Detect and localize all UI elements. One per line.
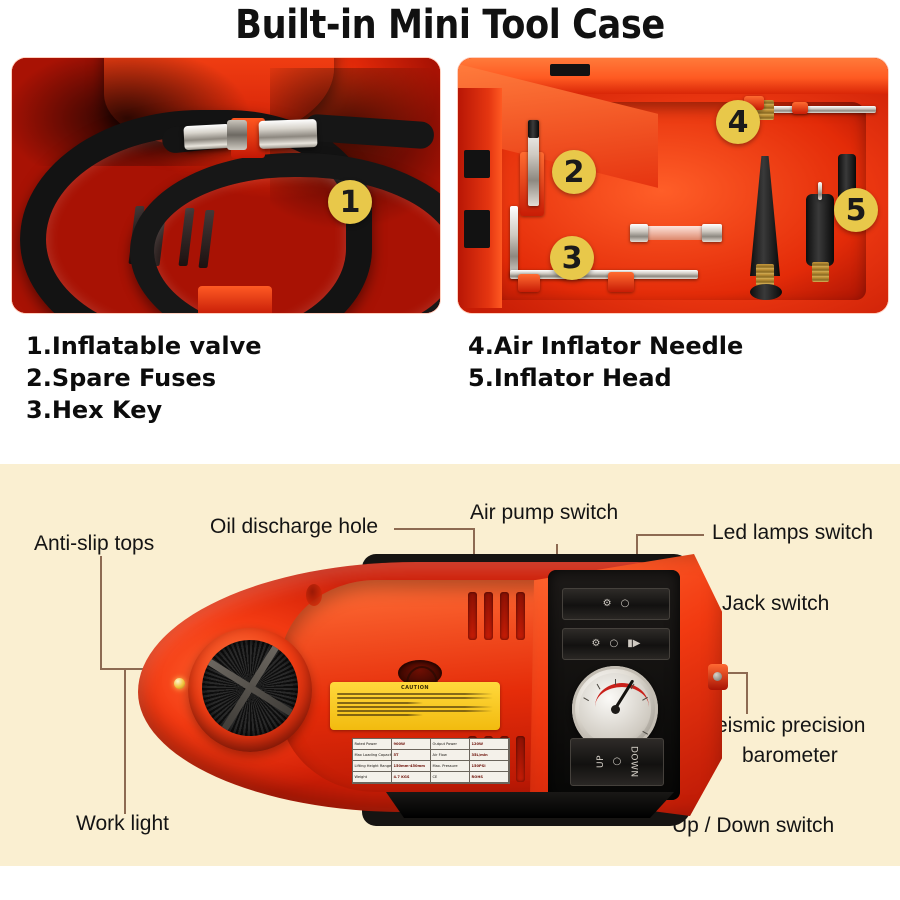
shell-dimple (306, 584, 322, 606)
jack-base-foot (374, 792, 674, 818)
callout-air-pump-switch: Air pump switch (470, 501, 618, 525)
legend-right-column: 4.Air Inflator Needle 5.Inflator Head (468, 330, 743, 394)
fuse-cap (630, 224, 648, 242)
legend-item-2: 2.Spare Fuses (26, 362, 262, 394)
air-inflator-needle (766, 106, 876, 113)
callout-oil-discharge-hole: Oil discharge hole (210, 515, 378, 539)
fuse-cap (528, 120, 539, 138)
anti-slip-saddle (188, 628, 312, 752)
gauge-tick (615, 679, 616, 685)
case-left-wall (458, 88, 502, 308)
electric-car-jack-product: CAUTION Rated Power 900W Output Power 12… (130, 540, 750, 840)
badge-number: 5 (846, 193, 867, 228)
down-label: DOWN (628, 746, 638, 778)
inflator-head-base (750, 284, 782, 300)
spec-cell: 120W (470, 739, 509, 750)
inflator-head-cylinder (806, 194, 834, 266)
tool-holder (608, 272, 634, 292)
gauge-tick (597, 684, 601, 690)
legend-item-3: 3.Hex Key (26, 394, 262, 426)
case-hinge-icon (550, 64, 590, 76)
caution-text-line (337, 714, 423, 716)
inflator-head-thread (812, 262, 829, 282)
caution-text-line (337, 697, 493, 699)
vent-slot (500, 592, 509, 640)
spec-cell: Air Flow (431, 750, 470, 761)
gauge-tick (642, 731, 648, 735)
leader-anti-slip-vertical (100, 556, 102, 668)
photo-badge-4: 4 (716, 100, 760, 144)
leader-work-light-vertical (124, 668, 126, 814)
case-latch-icon (464, 210, 490, 248)
vent-slot (468, 592, 477, 640)
legend-item-5: 5.Inflator Head (468, 362, 743, 394)
vent-slot (516, 736, 525, 782)
spec-cell: 4.7 KGS (392, 772, 431, 783)
anti-slip-pad (202, 640, 298, 736)
pad-cross-rib (202, 655, 298, 722)
chrome-coupling-nut (227, 120, 247, 150)
spec-cell: 35L/min (470, 750, 509, 761)
power-icon: ○ (613, 757, 622, 767)
control-panel: ⚙ ○ ⚙ ○ ▮▶ UP (548, 570, 680, 800)
badge-number: 1 (340, 185, 361, 220)
caution-title: CAUTION (335, 685, 495, 691)
leader-led-horizontal (636, 534, 704, 536)
spec-cell: Max Loading Capacity (353, 750, 392, 761)
legend-item-4: 4.Air Inflator Needle (468, 330, 743, 362)
lamp-icon: ⚙ (603, 599, 612, 609)
photo-badge-3: 3 (550, 236, 594, 280)
spec-cell: CE (431, 772, 470, 783)
tool-holder (792, 102, 808, 114)
photo-badge-1: 1 (328, 180, 372, 224)
caution-text-line (337, 706, 493, 708)
caution-text-line (337, 693, 493, 695)
hex-key-short-arm (510, 206, 518, 278)
caution-text-line (337, 702, 423, 704)
gauge-face (579, 673, 651, 745)
badge-number: 2 (564, 155, 585, 190)
case-latch-icon (464, 150, 490, 178)
legend-item-1: 1.Inflatable valve (26, 330, 262, 362)
spec-cell: 150mm-450mm (392, 761, 431, 772)
spec-cell: ROHS (470, 772, 509, 783)
gauge-tick (583, 697, 589, 701)
callout-seismic-barometer-line2: barometer (742, 744, 838, 768)
up-label: UP (596, 755, 606, 768)
power-icon: ○ (621, 599, 630, 609)
chrome-valve-fitting (183, 124, 230, 150)
leader-oil-hole-horizontal (394, 528, 474, 530)
tool-case-interior-photo: 2 3 4 5 (458, 58, 888, 313)
legend-left-column: 1.Inflatable valve 2.Spare Fuses 3.Hex K… (26, 330, 262, 426)
up-down-switch[interactable]: UP ○ DOWN (570, 738, 664, 786)
fuse-cap (702, 224, 722, 242)
spec-cell: 150PSI (470, 761, 509, 772)
side-release-knob (708, 664, 728, 690)
jack-switch[interactable]: ⚙ ○ ▮▶ (562, 628, 670, 660)
vent-slot (484, 592, 493, 640)
spec-cell: Output Power (431, 739, 470, 750)
page-title: Built-in Mini Tool Case (54, 2, 846, 48)
spec-cell: Rated Power (353, 739, 392, 750)
spec-cell: 5T (392, 750, 431, 761)
inflator-head-pin (818, 182, 822, 200)
spec-cell: Max. Pressure (431, 761, 470, 772)
case-mount-lug (198, 286, 272, 313)
spec-cell: Lifting Height Range(min-max) (353, 761, 392, 772)
led-lamps-switch[interactable]: ⚙ ○ (562, 588, 670, 620)
pump-icon: ▮▶ (627, 639, 640, 649)
gear-icon: ⚙ (592, 639, 601, 649)
photo-badge-5: 5 (834, 188, 878, 232)
badge-number: 3 (562, 241, 583, 276)
photo-badge-2: 2 (552, 150, 596, 194)
caution-text-line (337, 710, 493, 712)
vent-slot (516, 592, 525, 640)
badge-number: 4 (728, 105, 749, 140)
caution-label: CAUTION (330, 682, 500, 730)
specification-table: Rated Power 900W Output Power 120W Max L… (352, 738, 510, 784)
work-light-led (174, 678, 185, 689)
spec-cell: 900W (392, 739, 431, 750)
spec-cell: Weight (353, 772, 392, 783)
vent-slots-top (468, 592, 525, 640)
tool-holder (518, 274, 540, 292)
power-icon: ○ (610, 639, 619, 649)
inflator-head-thread (756, 264, 774, 286)
gauge-hub (611, 705, 620, 714)
chrome-valve-fitting (259, 119, 318, 149)
inflatable-valve-hose-photo: 1 (12, 58, 440, 313)
